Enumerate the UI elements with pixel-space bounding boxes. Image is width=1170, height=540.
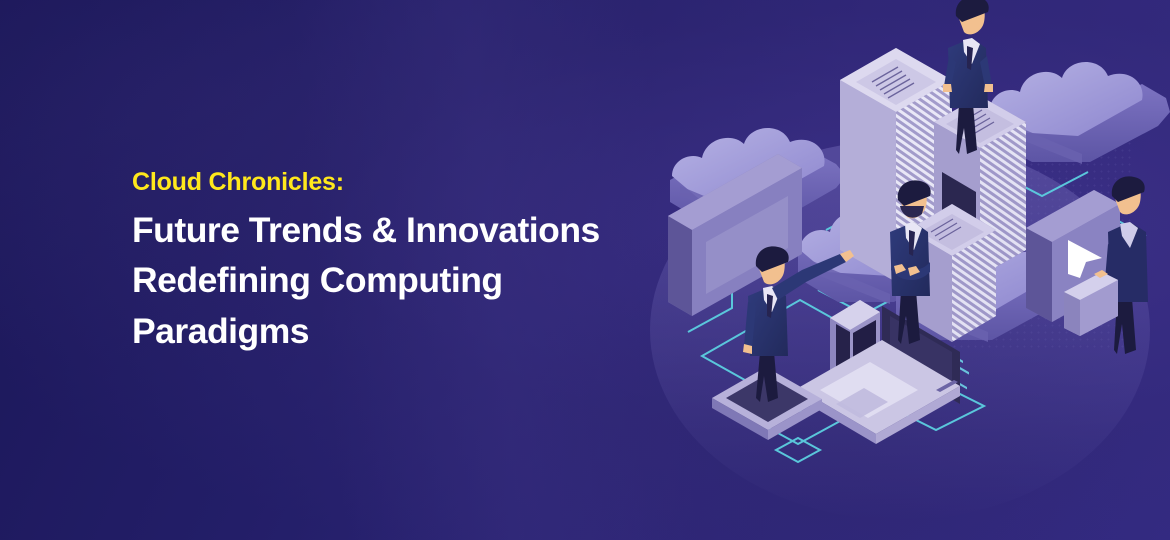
eyebrow-text: Cloud Chronicles: [132, 168, 732, 197]
page-title: Future Trends & Innovations Redefining C… [132, 205, 732, 356]
headline-block: Cloud Chronicles: Future Trends & Innova… [132, 168, 732, 356]
hero-banner: Cloud Chronicles: Future Trends & Innova… [0, 0, 1170, 540]
